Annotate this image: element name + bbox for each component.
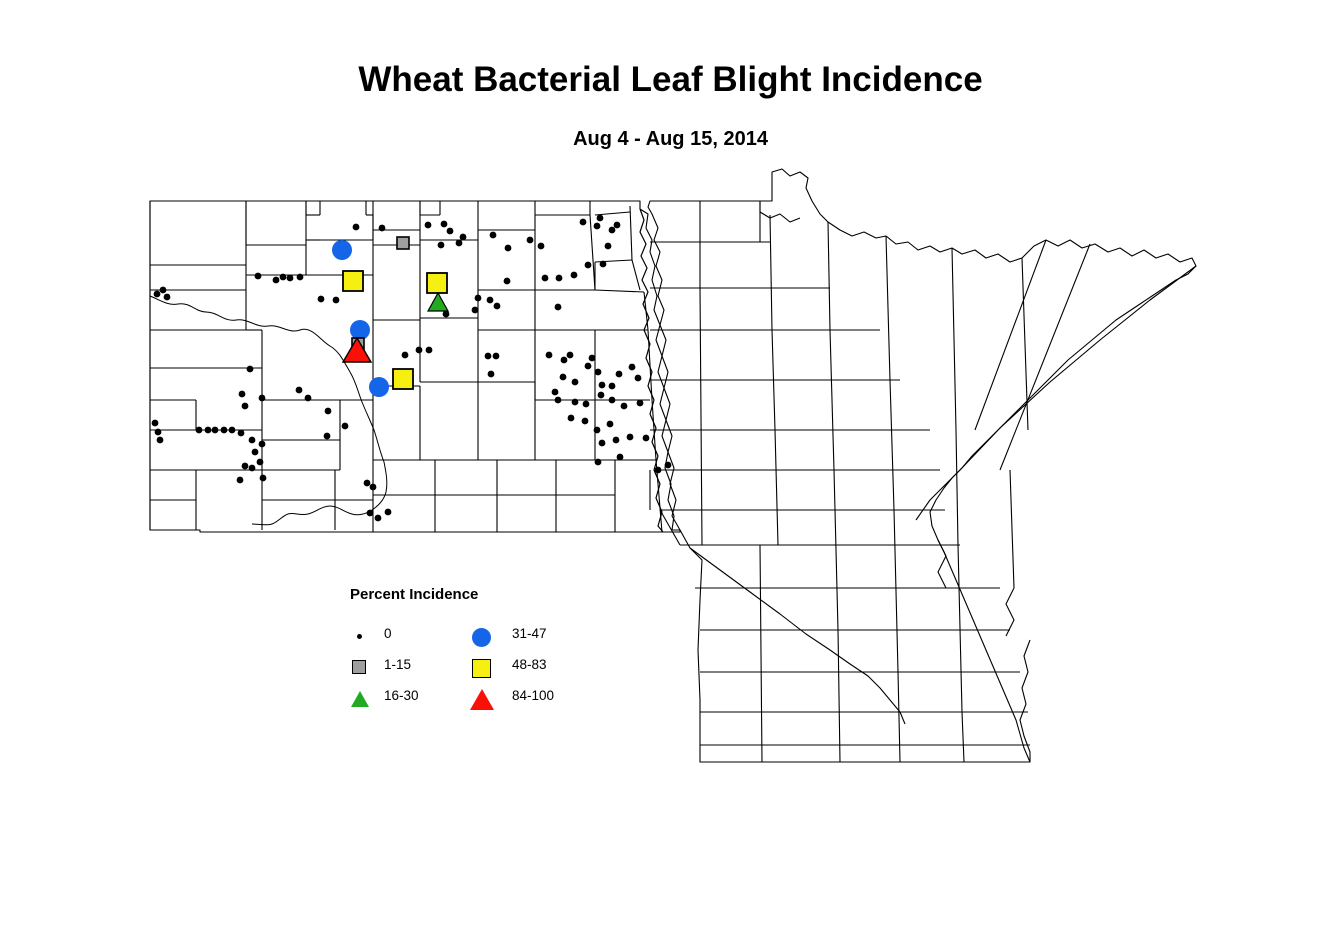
map-point-small-dot[interactable] [297, 274, 304, 281]
map-point-small-dot[interactable] [325, 408, 332, 415]
map-figure-page: Wheat Bacterial Leaf Blight Incidence Au… [0, 0, 1341, 926]
legend: Percent Incidence 0 1-15 16-30 [348, 586, 578, 711]
map-point-small-dot[interactable] [616, 371, 623, 378]
map-point-small-dot[interactable] [599, 440, 606, 447]
map-point-small-dot[interactable] [487, 297, 494, 304]
map-point-small-dot[interactable] [538, 243, 545, 250]
legend-label: 16-30 [384, 688, 419, 703]
map-point-small-dot[interactable] [247, 366, 254, 373]
map-point-small-dot[interactable] [255, 273, 262, 280]
map-point-small-dot[interactable] [555, 397, 562, 404]
map-point-yellow-square[interactable] [343, 271, 363, 291]
map-point-small-dot[interactable] [494, 303, 501, 310]
map-point-small-dot[interactable] [552, 389, 559, 396]
map-point-small-dot[interactable] [609, 383, 616, 390]
map-point-small-dot[interactable] [296, 387, 303, 394]
map-point-small-dot[interactable] [560, 374, 567, 381]
map-point-small-dot[interactable] [595, 369, 602, 376]
map-point-small-dot[interactable] [237, 477, 244, 484]
yellow-square-icon [468, 654, 498, 680]
map-point-small-dot[interactable] [613, 437, 620, 444]
map-point-small-dot[interactable] [305, 395, 312, 402]
map-point-blue-circle[interactable] [369, 377, 389, 397]
map-point-small-dot[interactable] [364, 480, 371, 487]
map-point-small-dot[interactable] [605, 243, 612, 250]
map-point-small-dot[interactable] [589, 355, 596, 362]
map-point-small-dot[interactable] [582, 418, 589, 425]
map-point-yellow-square[interactable] [393, 369, 413, 389]
map-point-small-dot[interactable] [585, 262, 592, 269]
map-point-small-dot[interactable] [600, 261, 607, 268]
map-point-small-dot[interactable] [221, 427, 228, 434]
map-point-small-dot[interactable] [542, 275, 549, 282]
map-point-small-dot[interactable] [154, 291, 161, 298]
map-point-small-dot[interactable] [441, 221, 448, 228]
map-point-small-dot[interactable] [617, 454, 624, 461]
map-point-small-dot[interactable] [572, 379, 579, 386]
gray-square-icon [348, 654, 378, 680]
map-point-small-dot[interactable] [155, 429, 162, 436]
map-point-small-dot[interactable] [212, 427, 219, 434]
map-point-small-dot[interactable] [370, 484, 377, 491]
map-point-small-dot[interactable] [205, 427, 212, 434]
map-point-small-dot[interactable] [164, 294, 171, 301]
map-point-small-dot[interactable] [599, 382, 606, 389]
map-point-small-dot[interactable] [260, 475, 267, 482]
map-point-small-dot[interactable] [375, 515, 382, 522]
map-point-small-dot[interactable] [385, 509, 392, 516]
map-point-small-dot[interactable] [572, 399, 579, 406]
map-point-small-dot[interactable] [379, 225, 386, 232]
map-point-small-dot[interactable] [583, 401, 590, 408]
legend-label: 84-100 [512, 688, 554, 703]
map-point-small-dot[interactable] [239, 391, 246, 398]
map-point-small-dot[interactable] [527, 237, 534, 244]
map-point-small-dot[interactable] [333, 297, 340, 304]
map-point-small-dot[interactable] [273, 277, 280, 284]
map-point-gray-square[interactable] [397, 237, 409, 249]
blue-circle-icon [468, 623, 498, 649]
map-county-outlines [150, 169, 1196, 762]
map-point-small-dot[interactable] [629, 364, 636, 371]
map-point-small-dot[interactable] [627, 434, 634, 441]
map-point-small-dot[interactable] [475, 295, 482, 302]
map-point-small-dot[interactable] [607, 421, 614, 428]
map-point-blue-circle[interactable] [350, 320, 370, 340]
map-point-small-dot[interactable] [438, 242, 445, 249]
map-point-small-dot[interactable] [609, 227, 616, 234]
map-point-small-dot[interactable] [665, 462, 672, 469]
map-point-small-dot[interactable] [342, 423, 349, 430]
green-triangle-icon [348, 685, 378, 711]
map-point-small-dot[interactable] [598, 392, 605, 399]
legend-title: Percent Incidence [350, 586, 578, 603]
map-point-small-dot[interactable] [242, 463, 249, 470]
map-point-small-dot[interactable] [456, 240, 463, 247]
map-point-small-dot[interactable] [242, 403, 249, 410]
map-point-small-dot[interactable] [259, 395, 266, 402]
red-triangle-icon [468, 685, 498, 711]
map-point-small-dot[interactable] [488, 371, 495, 378]
map-point-small-dot[interactable] [318, 296, 325, 303]
map-point-small-dot[interactable] [443, 311, 450, 318]
map-point-small-dot[interactable] [287, 275, 294, 282]
map-point-small-dot[interactable] [402, 352, 409, 359]
map-point-small-dot[interactable] [637, 400, 644, 407]
map-point-small-dot[interactable] [252, 449, 259, 456]
map-point-small-dot[interactable] [555, 304, 562, 311]
map-point-small-dot[interactable] [635, 375, 642, 382]
map-point-small-dot[interactable] [595, 459, 602, 466]
map-point-small-dot[interactable] [280, 274, 287, 281]
map-point-small-dot[interactable] [238, 430, 245, 437]
map-point-small-dot[interactable] [425, 222, 432, 229]
map-point-small-dot[interactable] [614, 222, 621, 229]
map-point-small-dot[interactable] [585, 363, 592, 370]
map-point-small-dot[interactable] [580, 219, 587, 226]
map-point-small-dot[interactable] [655, 467, 662, 474]
map-point-yellow-square[interactable] [427, 273, 447, 293]
map-point-small-dot[interactable] [249, 465, 256, 472]
legend-label: 48-83 [512, 657, 547, 672]
map-point-red-triangle[interactable] [343, 338, 371, 362]
map-point-small-dot[interactable] [460, 234, 467, 241]
map-point-small-dot[interactable] [472, 307, 479, 314]
map-point-small-dot[interactable] [160, 287, 167, 294]
map-point-small-dot[interactable] [152, 420, 159, 427]
map-point-small-dot[interactable] [157, 437, 164, 444]
map-point-small-dot[interactable] [556, 275, 563, 282]
map-point-small-dot[interactable] [416, 347, 423, 354]
map-point-small-dot[interactable] [257, 459, 264, 466]
legend-label: 0 [384, 626, 392, 641]
map-point-small-dot[interactable] [490, 232, 497, 239]
small-dot-icon [348, 623, 378, 649]
map-point-small-dot[interactable] [568, 415, 575, 422]
map-point-small-dot[interactable] [571, 272, 578, 279]
map-point-small-dot[interactable] [643, 435, 650, 442]
map-point-small-dot[interactable] [259, 441, 266, 448]
map-point-small-dot[interactable] [229, 427, 236, 434]
map-canvas [0, 0, 1341, 926]
map-point-small-dot[interactable] [505, 245, 512, 252]
map-point-small-dot[interactable] [504, 278, 511, 285]
map-point-small-dot[interactable] [594, 223, 601, 230]
map-point-small-dot[interactable] [485, 353, 492, 360]
legend-label: 1-15 [384, 657, 411, 672]
map-point-small-dot[interactable] [597, 215, 604, 222]
legend-label: 31-47 [512, 626, 547, 641]
map-point-small-dot[interactable] [426, 347, 433, 354]
map-point-small-dot[interactable] [561, 357, 568, 364]
map-point-small-dot[interactable] [353, 224, 360, 231]
map-point-small-dot[interactable] [249, 437, 256, 444]
map-point-small-dot[interactable] [367, 510, 374, 517]
map-point-small-dot[interactable] [567, 352, 574, 359]
map-point-blue-circle[interactable] [332, 240, 352, 260]
map-point-small-dot[interactable] [594, 427, 601, 434]
map-point-small-dot[interactable] [609, 397, 616, 404]
map-point-small-dot[interactable] [493, 353, 500, 360]
map-point-small-dot[interactable] [196, 427, 203, 434]
map-point-small-dot[interactable] [447, 228, 454, 235]
map-point-small-dot[interactable] [621, 403, 628, 410]
map-point-small-dot[interactable] [546, 352, 553, 359]
map-point-green-triangle[interactable] [428, 293, 448, 311]
map-point-small-dot[interactable] [324, 433, 331, 440]
